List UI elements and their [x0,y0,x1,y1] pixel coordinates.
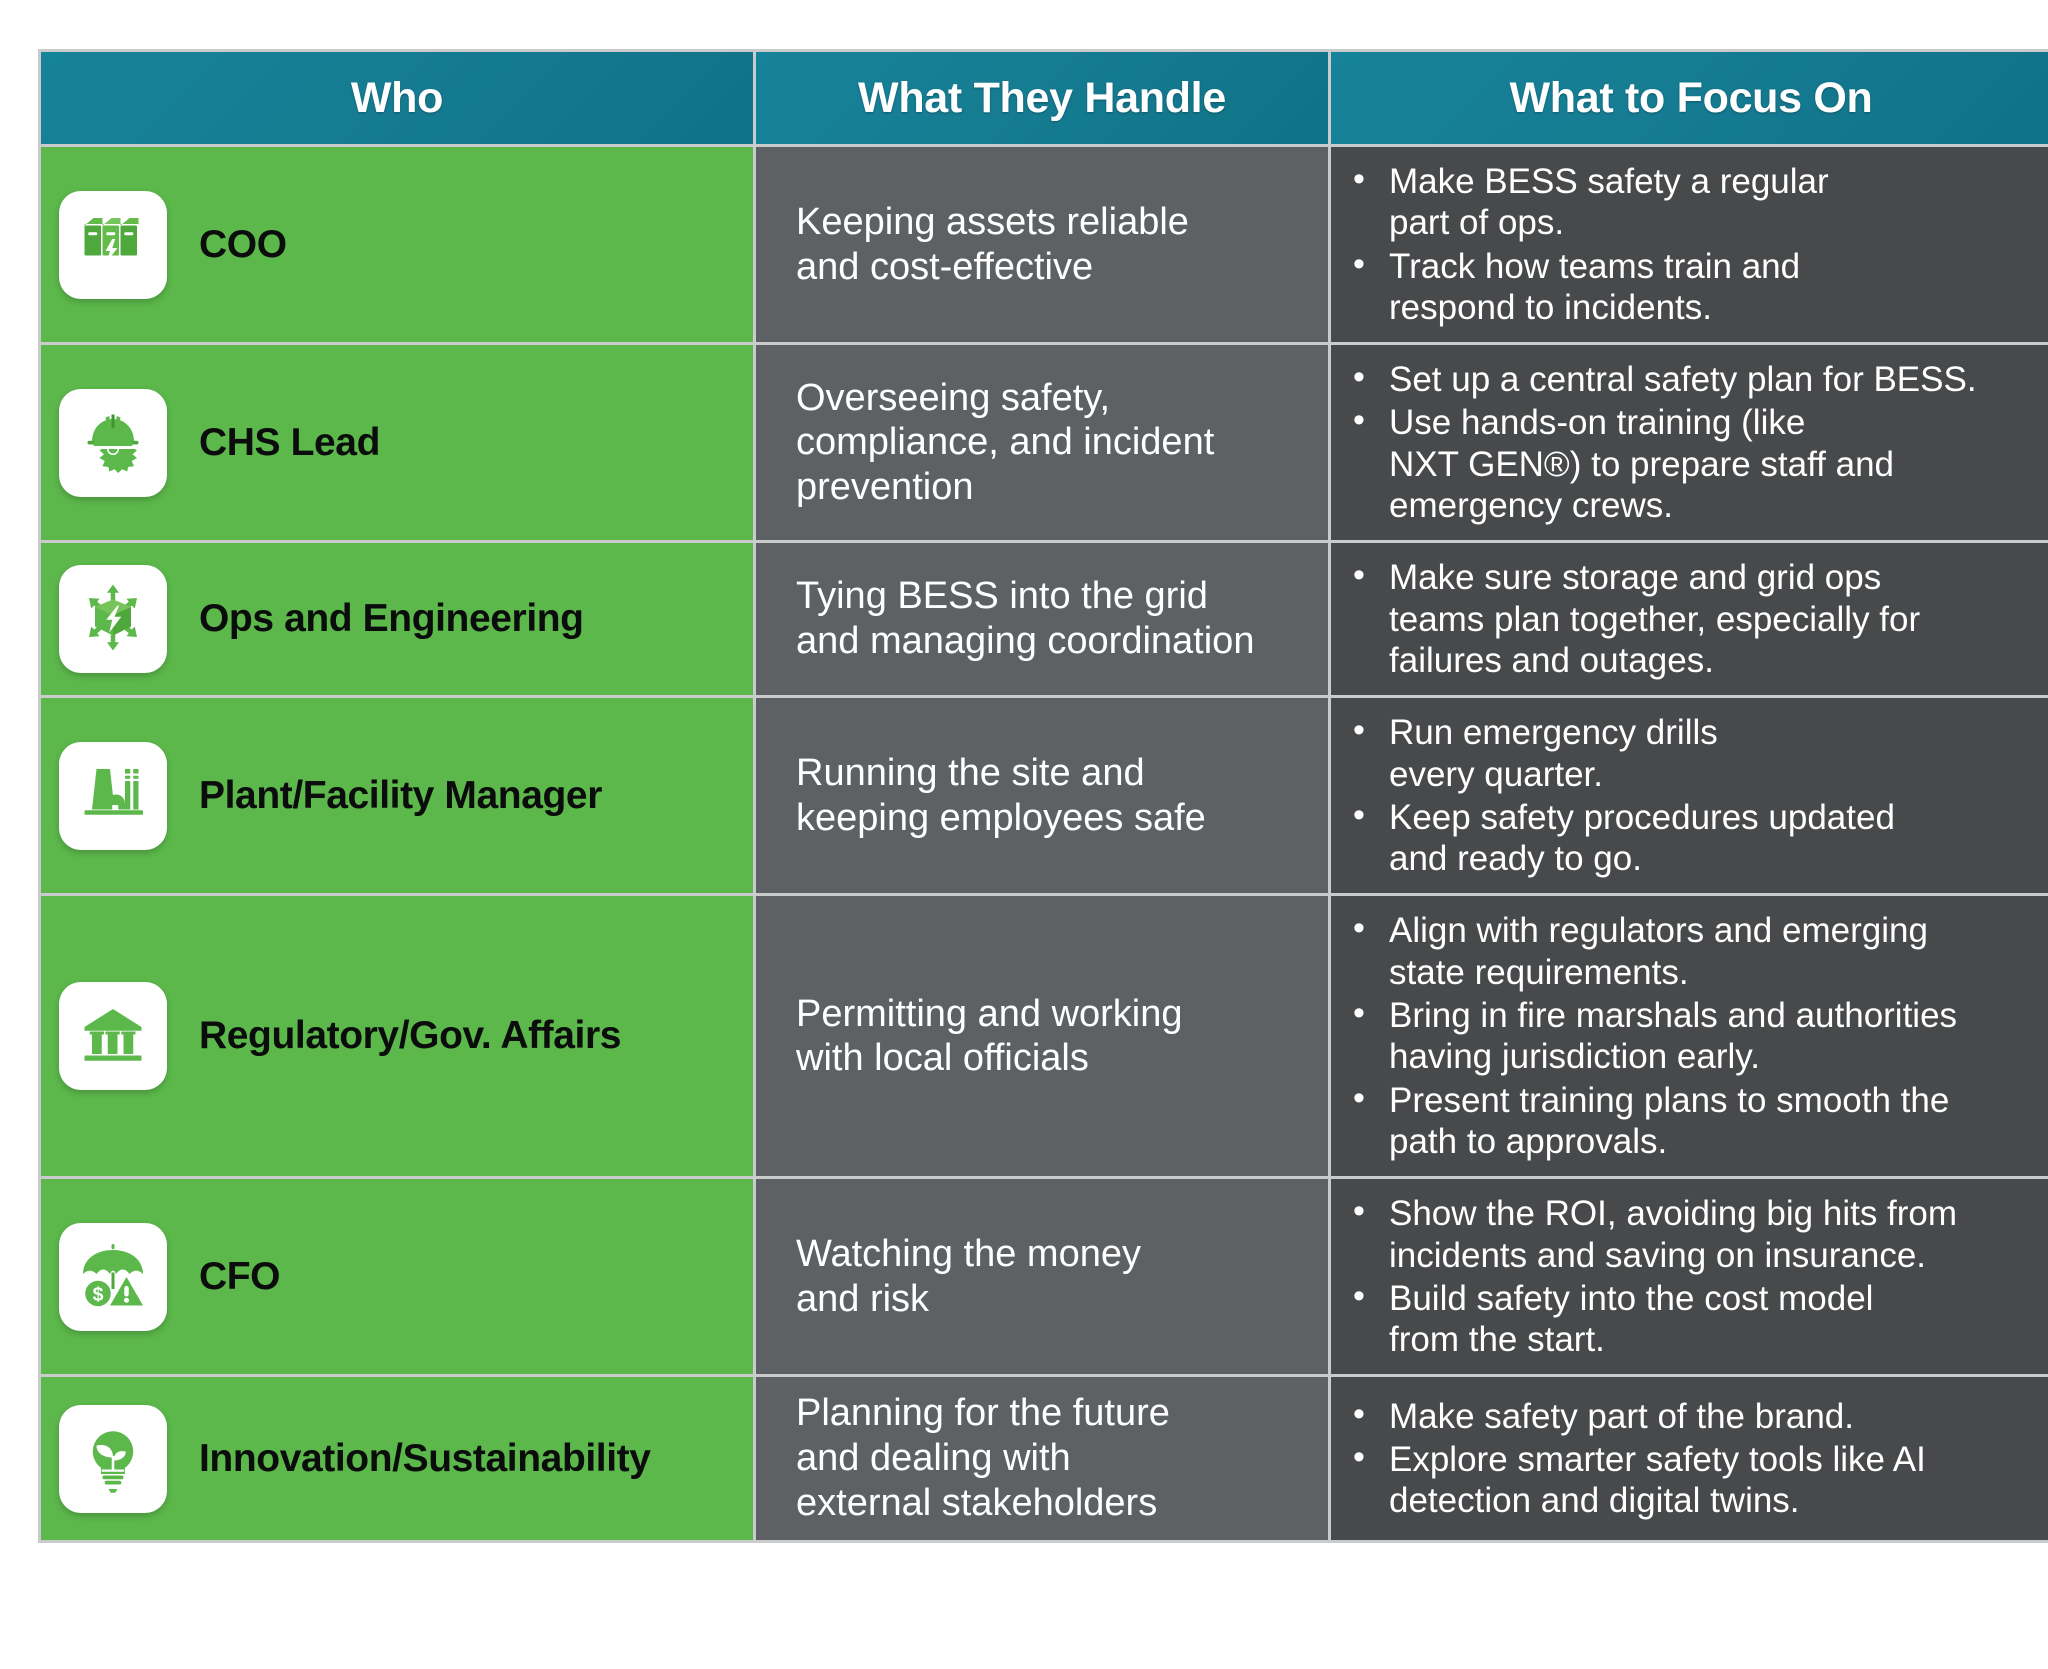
who-label: Plant/Facility Manager [199,774,602,818]
focus-bullet-text: Present training plans to smooth the pat… [1389,1081,1949,1161]
table-row: Regulatory/Gov. AffairsPermitting and wo… [41,896,2048,1176]
what-they-handle-cell: Permitting and working with local offici… [756,896,1328,1176]
handle-text: Tying BESS into the grid and managing co… [796,574,1322,664]
focus-bullet-item: Track how teams train and respond to inc… [1349,246,2048,329]
what-to-focus-on-cell: Make safety part of the brand.Explore sm… [1331,1377,2048,1539]
focus-bullet-text: Make BESS safety a regular part of ops. [1389,162,1829,242]
handle-text: Keeping assets reliable and cost-effecti… [796,200,1322,290]
what-they-handle-cell: Overseeing safety, compliance, and incid… [756,345,1328,540]
who-label: COO [199,223,287,267]
focus-bullet-text: Set up a central safety plan for BESS. [1389,360,1977,399]
who-label: Innovation/Sustainability [199,1437,651,1481]
focus-bullet-item: Make safety part of the brand. [1349,1396,2048,1437]
who-label: Ops and Engineering [199,597,584,641]
table-row: Ops and EngineeringTying BESS into the g… [41,543,2048,695]
focus-bullet-text: Show the ROI, avoiding big hits from inc… [1389,1194,1957,1274]
focus-bullet-list: Make BESS safety a regular part of ops.T… [1349,161,2048,328]
what-they-handle-cell: Watching the money and risk [756,1179,1328,1374]
who-cell: COO [41,147,753,342]
handle-text: Permitting and working with local offici… [796,992,1322,1082]
header-row: Who What They Handle What to Focus On [41,52,2048,144]
what-to-focus-on-cell: Make sure storage and grid ops teams pla… [1331,543,2048,695]
who-cell: Innovation/Sustainability [41,1377,753,1539]
stakeholder-matrix-table: Who What They Handle What to Focus On CO… [38,49,2048,1656]
focus-bullet-list: Align with regulators and emerging state… [1349,910,2048,1162]
handle-text: Overseeing safety, compliance, and incid… [796,376,1322,510]
who-cell: Plant/Facility Manager [41,698,753,893]
what-they-handle-cell: Tying BESS into the grid and managing co… [756,543,1328,695]
focus-bullet-text: Make safety part of the brand. [1389,1397,1854,1436]
handle-text: Planning for the future and dealing with… [796,1391,1322,1525]
table-row: COOKeeping assets reliable and cost-effe… [41,147,2048,342]
focus-bullet-text: Keep safety procedures updated and ready… [1389,798,1895,878]
focus-bullet-item: Run emergency drills every quarter. [1349,712,2048,795]
focus-bullet-text: Bring in fire marshals and authorities h… [1389,996,1957,1076]
focus-bullet-item: Build safety into the cost model from th… [1349,1278,2048,1361]
focus-bullet-item: Explore smarter safety tools like AI det… [1349,1439,2048,1522]
handle-text: Watching the money and risk [796,1232,1322,1322]
focus-bullet-item: Show the ROI, avoiding big hits from inc… [1349,1193,2048,1276]
focus-bullet-item: Bring in fire marshals and authorities h… [1349,995,2048,1078]
focus-bullet-text: Align with regulators and emerging state… [1389,911,1928,991]
lightbulb-leaf-icon [59,1405,167,1513]
what-they-handle-cell: Planning for the future and dealing with… [756,1377,1328,1539]
focus-bullet-list: Make safety part of the brand.Explore sm… [1349,1396,2048,1522]
focus-bullet-list: Set up a central safety plan for BESS.Us… [1349,359,2048,526]
column-header-who: Who [41,52,753,144]
matrix-table: Who What They Handle What to Focus On CO… [38,49,2048,1543]
what-to-focus-on-cell: Set up a central safety plan for BESS.Us… [1331,345,2048,540]
table-body: COOKeeping assets reliable and cost-effe… [41,147,2048,1540]
what-they-handle-cell: Running the site and keeping employees s… [756,698,1328,893]
who-label: Regulatory/Gov. Affairs [199,1014,621,1058]
focus-bullet-list: Run emergency drills every quarter.Keep … [1349,712,2048,879]
who-cell: Ops and Engineering [41,543,753,695]
focus-bullet-text: Build safety into the cost model from th… [1389,1279,1873,1359]
battery-storage-cabinets-icon [59,191,167,299]
what-to-focus-on-cell: Run emergency drills every quarter.Keep … [1331,698,2048,893]
umbrella-money-risk-icon [59,1223,167,1331]
handle-text: Running the site and keeping employees s… [796,751,1322,841]
hard-hat-gear-icon [59,389,167,497]
focus-bullet-item: Present training plans to smooth the pat… [1349,1080,2048,1163]
table-row: Plant/Facility ManagerRunning the site a… [41,698,2048,893]
who-label: CFO [199,1255,280,1299]
who-cell: CHS Lead [41,345,753,540]
focus-bullet-list: Make sure storage and grid ops teams pla… [1349,557,2048,681]
table-row: CHS LeadOverseeing safety, compliance, a… [41,345,2048,540]
focus-bullet-item: Align with regulators and emerging state… [1349,910,2048,993]
column-header-what-they-handle: What They Handle [756,52,1328,144]
table-row: Innovation/SustainabilityPlanning for th… [41,1377,2048,1539]
focus-bullet-list: Show the ROI, avoiding big hits from inc… [1349,1193,2048,1360]
focus-bullet-text: Explore smarter safety tools like AI det… [1389,1440,1926,1520]
who-cell: Regulatory/Gov. Affairs [41,896,753,1176]
focus-bullet-text: Use hands-on training (like NXT GEN®) to… [1389,403,1894,525]
focus-bullet-text: Make sure storage and grid ops teams pla… [1389,558,1920,680]
focus-bullet-item: Use hands-on training (like NXT GEN®) to… [1349,402,2048,526]
what-they-handle-cell: Keeping assets reliable and cost-effecti… [756,147,1328,342]
focus-bullet-item: Make sure storage and grid ops teams pla… [1349,557,2048,681]
table-header: Who What They Handle What to Focus On [41,52,2048,144]
government-building-icon [59,982,167,1090]
who-cell: CFO [41,1179,753,1374]
focus-bullet-item: Set up a central safety plan for BESS. [1349,359,2048,400]
focus-bullet-text: Track how teams train and respond to inc… [1389,247,1800,327]
what-to-focus-on-cell: Show the ROI, avoiding big hits from inc… [1331,1179,2048,1374]
who-label: CHS Lead [199,421,380,465]
energy-cube-distribution-icon [59,565,167,673]
focus-bullet-item: Make BESS safety a regular part of ops. [1349,161,2048,244]
power-plant-icon [59,742,167,850]
what-to-focus-on-cell: Make BESS safety a regular part of ops.T… [1331,147,2048,342]
what-to-focus-on-cell: Align with regulators and emerging state… [1331,896,2048,1176]
column-header-what-to-focus-on: What to Focus On [1331,52,2048,144]
focus-bullet-text: Run emergency drills every quarter. [1389,713,1718,793]
focus-bullet-item: Keep safety procedures updated and ready… [1349,797,2048,880]
table-row: CFOWatching the money and riskShow the R… [41,1179,2048,1374]
